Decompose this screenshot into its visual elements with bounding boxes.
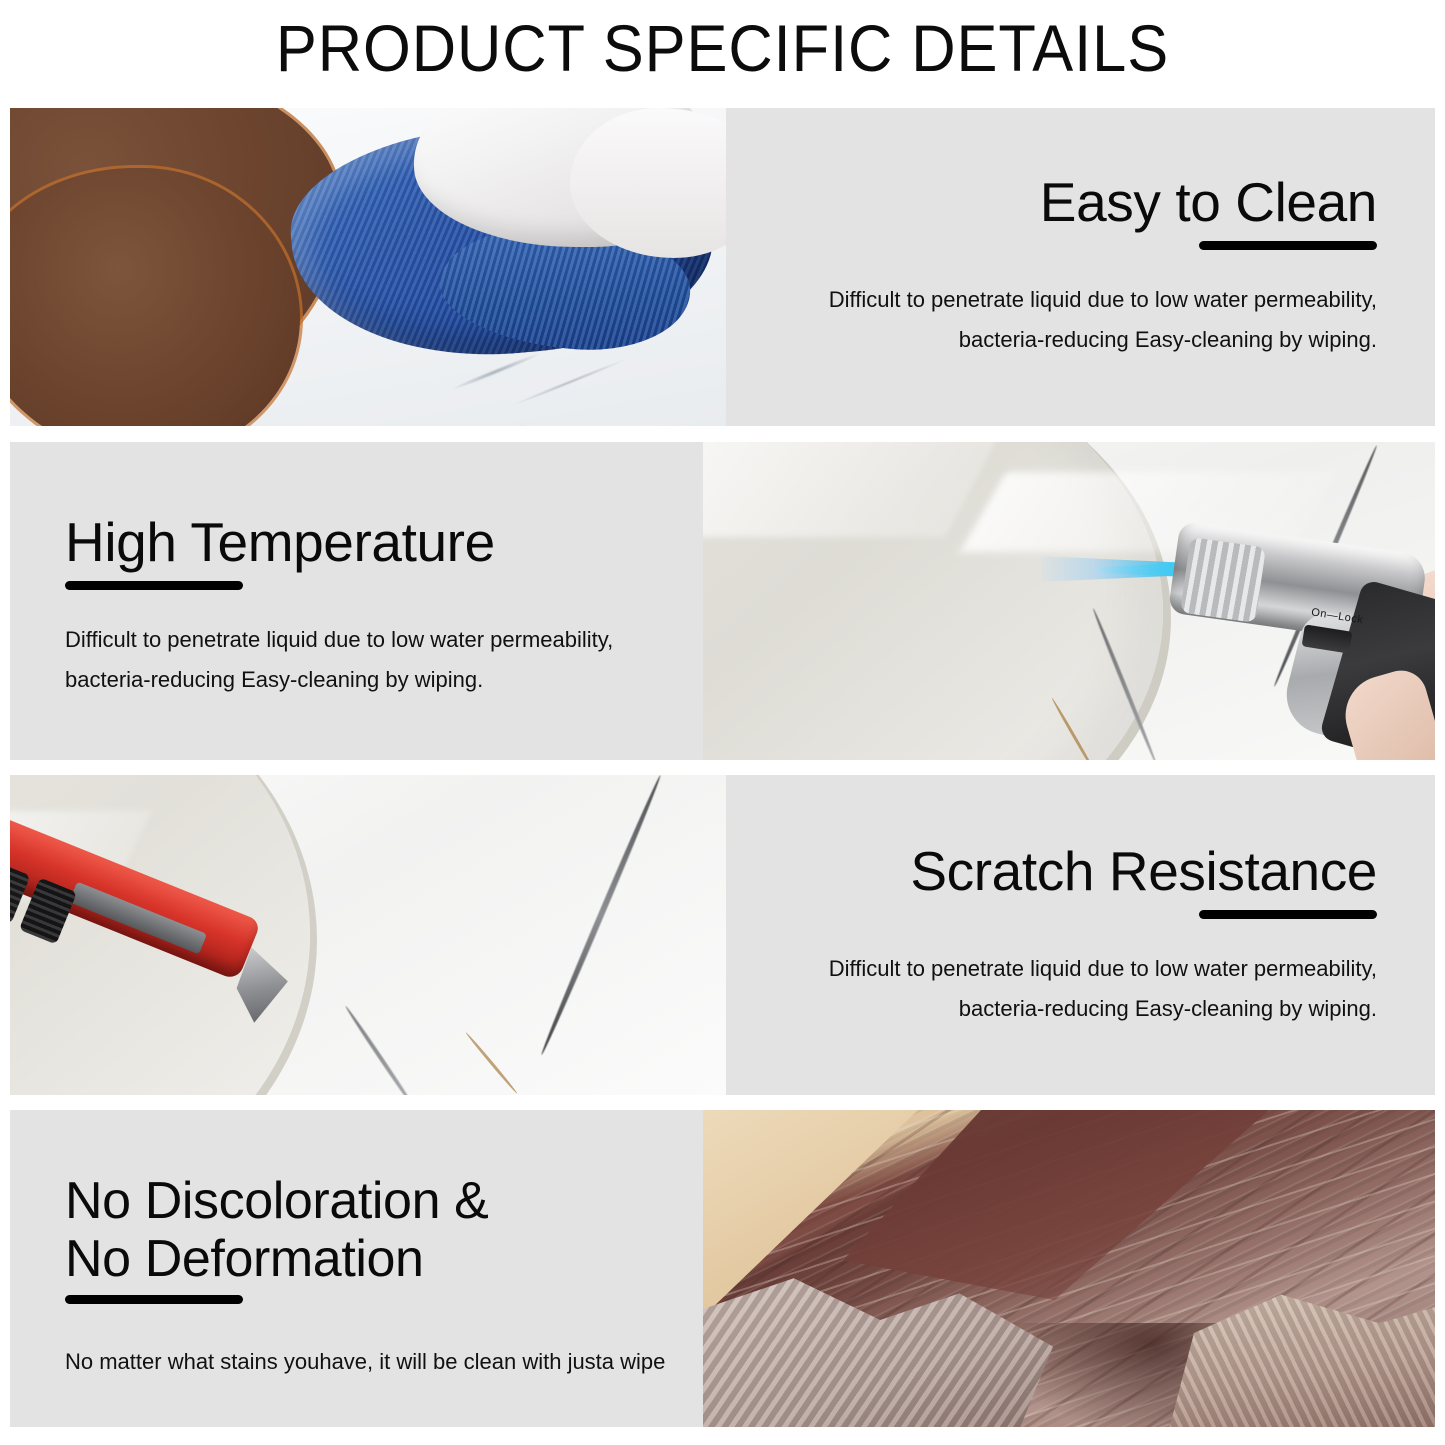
feature-body-text: Difficult to penetrate liquid due to low…	[766, 280, 1377, 360]
feature-text-no-discoloration: No Discoloration & No Deformation No mat…	[10, 1110, 710, 1427]
heading-underline-rule	[65, 1295, 243, 1304]
feature-body-text: Difficult to penetrate liquid due to low…	[65, 620, 670, 700]
marble-vein-decoration	[539, 775, 664, 1056]
heading-underline-rule	[1199, 910, 1377, 919]
feature-text-high-temperature: High Temperature Difficult to penetrate …	[10, 442, 710, 760]
marble-vein-decoration	[344, 1005, 420, 1095]
feature-text-scratch-resistance: Scratch Resistance Difficult to penetrat…	[726, 775, 1435, 1095]
feature-image-no-discoloration	[703, 1110, 1435, 1427]
feature-section-easy-to-clean: Easy to Clean Difficult to penetrate liq…	[10, 108, 1435, 426]
feature-section-high-temperature: High Temperature Difficult to penetrate …	[10, 442, 1435, 760]
feature-image-scratch-resistance	[10, 775, 726, 1095]
feature-section-scratch-resistance: Scratch Resistance Difficult to penetrat…	[10, 775, 1435, 1095]
feature-body-text: Difficult to penetrate liquid due to low…	[766, 949, 1377, 1029]
torch-nozzle-shape	[1180, 537, 1266, 623]
page-title: PRODUCT SPECIFIC DETAILS	[51, 8, 1395, 88]
heading-underline-rule	[65, 581, 243, 590]
feature-heading: Easy to Clean	[766, 170, 1377, 234]
marble-vein-decoration	[465, 1031, 519, 1094]
feature-heading: No Discoloration & No Deformation	[65, 1172, 670, 1288]
feature-heading: High Temperature	[65, 510, 670, 574]
feature-image-high-temperature: On—Lock	[703, 442, 1435, 760]
feature-text-easy-to-clean: Easy to Clean Difficult to penetrate liq…	[726, 108, 1435, 426]
feature-section-no-discoloration: No Discoloration & No Deformation No mat…	[10, 1110, 1435, 1427]
feature-body-text: No matter what stains youhave, it will b…	[65, 1342, 670, 1382]
feature-heading: Scratch Resistance	[766, 839, 1377, 903]
feature-image-easy-to-clean	[10, 108, 726, 426]
heading-underline-rule	[1199, 241, 1377, 250]
